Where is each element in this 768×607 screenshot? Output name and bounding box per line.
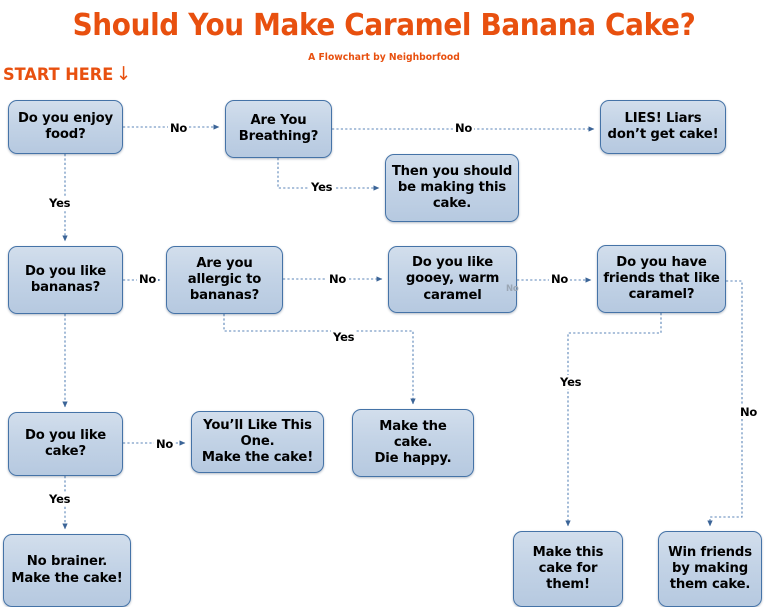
edge-label-gooey-ghost-no: No <box>504 284 521 294</box>
flowchart-canvas: Should You Make Caramel Banana Cake? A F… <box>0 0 768 607</box>
flow-node-win-friends: Win friends by making them cake. <box>658 531 762 607</box>
flow-node-no-brainer: No brainer. Make the cake! <box>3 534 131 607</box>
edge-friends-no <box>710 281 742 526</box>
flow-node-cake-for-them: Make this cake for them! <box>513 531 623 607</box>
down-arrow-icon: ↓ <box>113 63 131 85</box>
edge-label-bananas-yes: Yes <box>47 492 72 506</box>
edge-friends-yes <box>568 313 661 526</box>
flow-node-breathing: Are You Breathing? <box>225 100 332 158</box>
flow-node-youll-like-this: You’ll Like This One. Make the cake! <box>191 411 324 473</box>
start-here-label: START HERE↓ <box>3 63 131 85</box>
flow-node-gooey-caramel: Do you like gooey, warm caramel <box>388 246 517 313</box>
flow-node-friends-caramel: Do you have friends that like caramel? <box>597 245 726 313</box>
edge-label-enjoy-no: No <box>168 121 189 135</box>
edge-allergic-yes <box>224 314 413 404</box>
edge-label-allergic-no: No <box>327 272 348 286</box>
flow-node-allergic: Are you allergic to bananas? <box>166 246 283 314</box>
edge-label-cake-no: No <box>154 437 175 451</box>
flow-node-lies: LIES! Liars don’t get cake! <box>600 100 726 154</box>
page-title: Should You Make Caramel Banana Cake? <box>27 8 741 43</box>
edge-label-gooey-no: No <box>549 272 570 286</box>
edge-label-breathing-yes: Yes <box>309 180 334 194</box>
page-subtitle: A Flowchart by Neighborfood <box>31 52 738 63</box>
edge-label-bananas-no: No <box>137 272 158 286</box>
edge-label-allergic-yes: Yes <box>331 330 356 344</box>
flow-node-then-you-should: Then you should be making this cake. <box>385 154 519 222</box>
flow-node-like-bananas: Do you like bananas? <box>8 246 123 314</box>
start-here-text: START HERE <box>3 65 113 85</box>
flow-node-die-happy: Make the cake. Die happy. <box>352 409 474 477</box>
flow-node-like-cake: Do you like cake? <box>8 412 123 476</box>
edge-label-friends-yes: Yes <box>558 375 583 389</box>
edge-label-breathing-no: No <box>453 121 474 135</box>
edge-label-enjoy-yes: Yes <box>47 196 72 210</box>
edge-label-friends-no: No <box>738 405 759 419</box>
flow-node-enjoy-food: Do you enjoy food? <box>8 100 123 154</box>
